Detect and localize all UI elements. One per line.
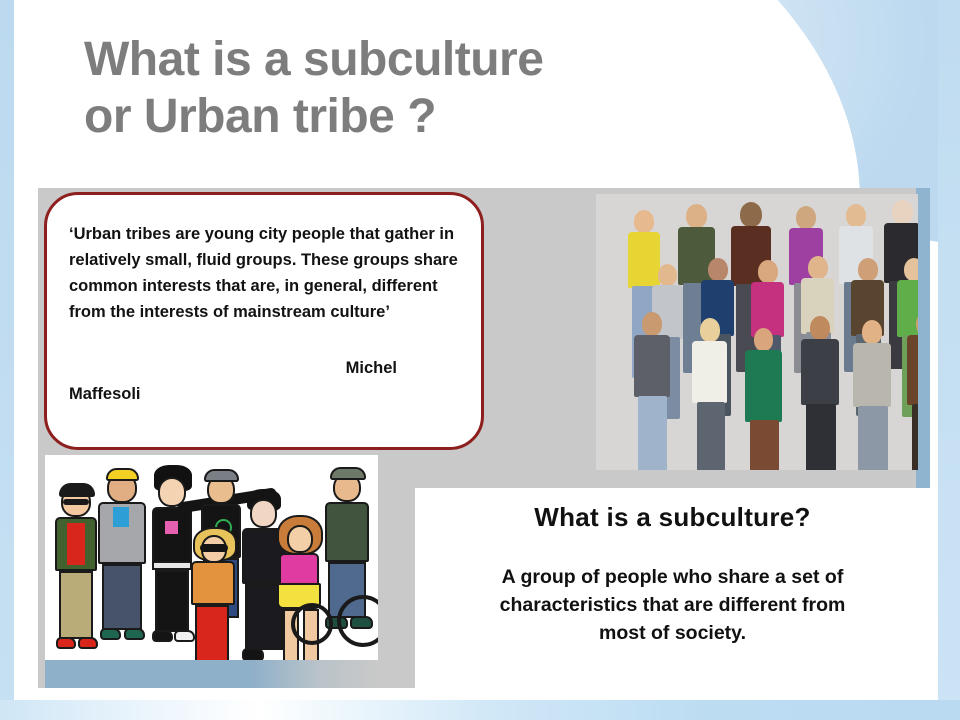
quote-attribution-line2: Maffesoli	[69, 381, 463, 407]
background-right-edge	[938, 0, 960, 720]
cartoon-youth-subculture-group	[45, 455, 378, 670]
content-panel-edge-accent	[916, 188, 930, 488]
definition-heading: What is a subculture?	[534, 502, 810, 533]
quote-attribution: Michel Maffesoli	[69, 355, 463, 407]
crowd-of-subculture-people-illustration	[596, 194, 918, 470]
definition-body: A group of people who share a set of cha…	[500, 563, 846, 647]
cartoon-image-shadow	[45, 660, 378, 688]
page-title: What is a subculture or Urban tribe ?	[84, 32, 844, 145]
background-bottom-strip	[0, 700, 960, 720]
definition-panel: What is a subculture? A group of people …	[415, 488, 930, 688]
quote-text: ‘Urban tribes are young city people that…	[69, 221, 463, 325]
quote-attribution-line1: Michel	[69, 355, 463, 381]
slide: What is a subculture or Urban tribe ?	[0, 0, 960, 720]
quote-callout: ‘Urban tribes are young city people that…	[44, 192, 484, 450]
background-left-edge	[0, 0, 14, 720]
